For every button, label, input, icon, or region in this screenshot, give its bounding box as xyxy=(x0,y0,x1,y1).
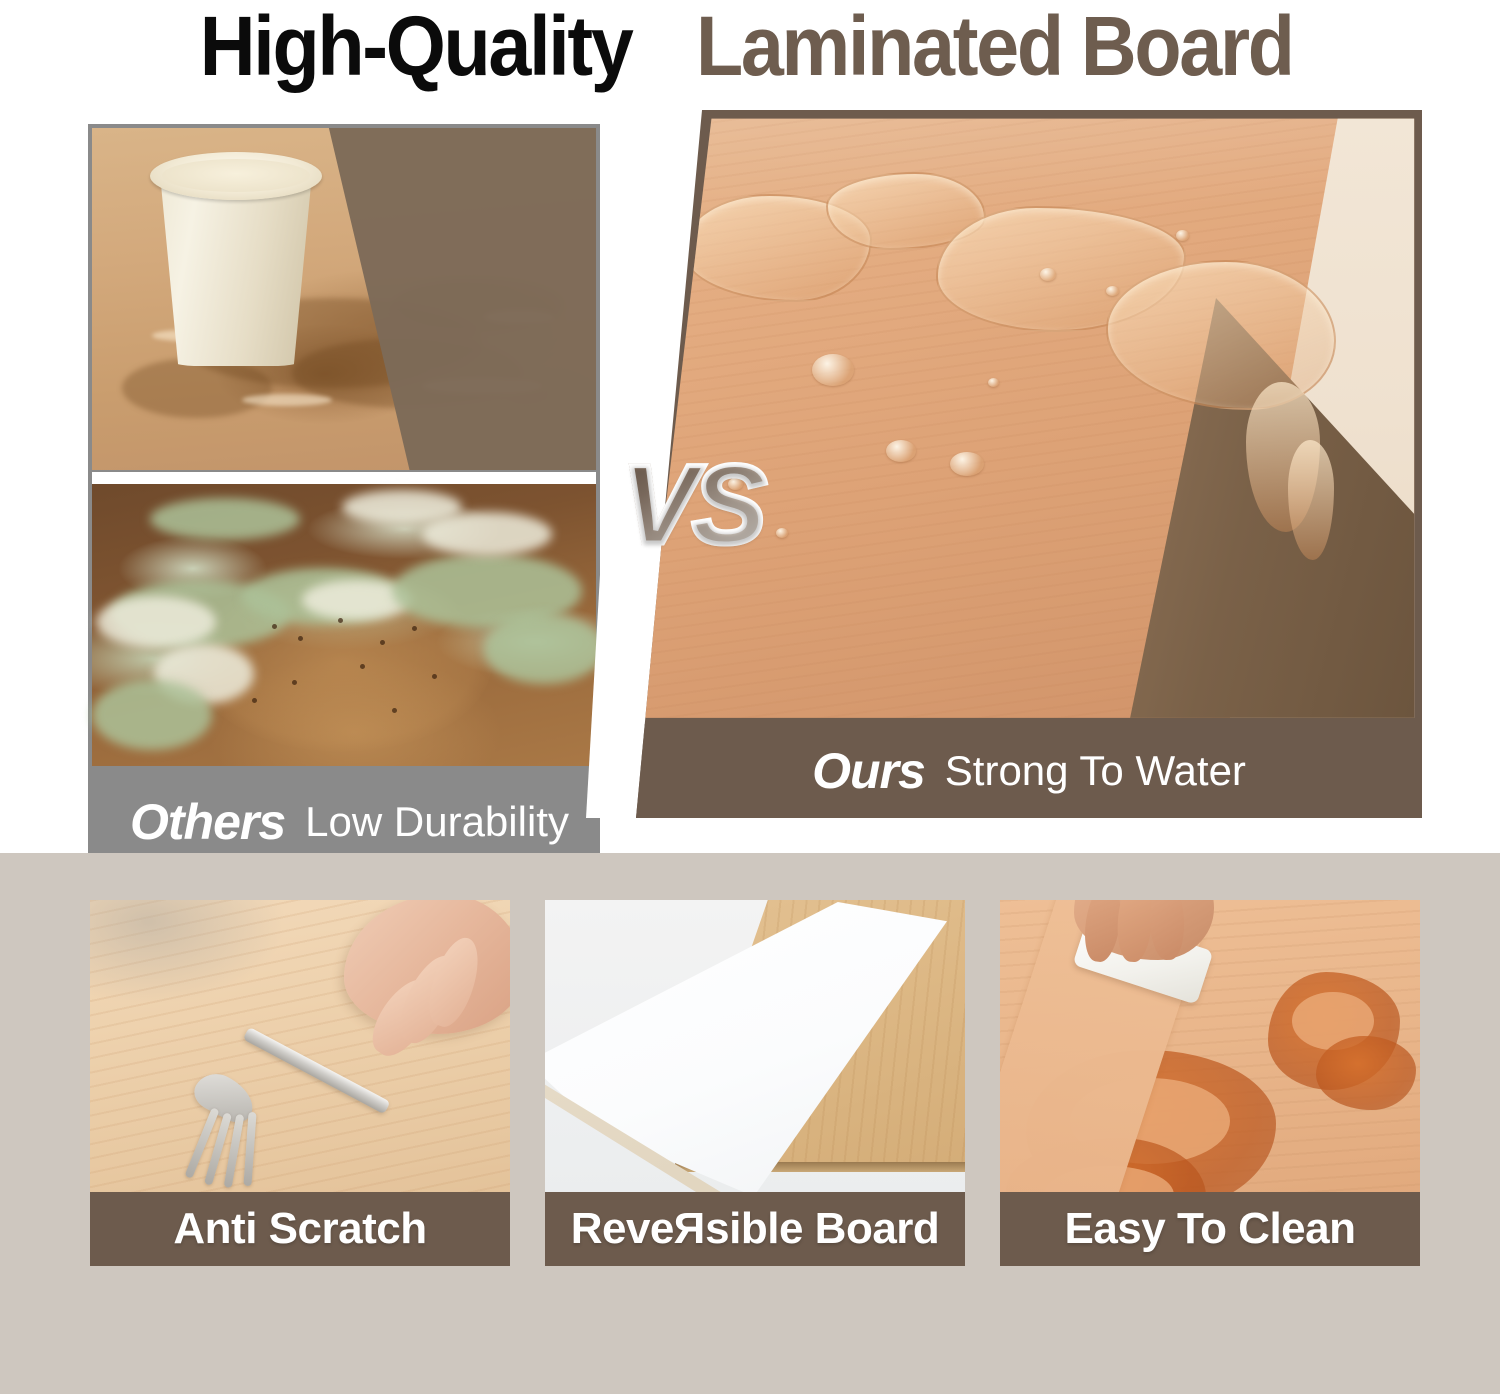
feature-card-easy-to-clean: Easy To Clean xyxy=(1000,900,1420,1266)
label-ours-claim: Strong To Water xyxy=(945,750,1246,792)
caption-prefix: Reve xyxy=(571,1204,674,1253)
label-others-brand: Others xyxy=(130,797,285,847)
feature-caption-text: Easy To Clean xyxy=(1064,1207,1355,1251)
page-title-secondary: Laminated Board xyxy=(696,4,1293,88)
feature-caption-easy-to-clean: Easy To Clean xyxy=(1000,1192,1420,1266)
page-title: High-Quality Laminated Board xyxy=(0,0,1500,93)
feature-caption-text: Anti Scratch xyxy=(173,1207,426,1251)
photo-water-beading xyxy=(636,110,1422,724)
comparison-section: Others Low Durability xyxy=(88,110,1422,818)
photo-mold-growth xyxy=(92,484,596,766)
photo-divider xyxy=(92,472,596,484)
fork-handle xyxy=(243,1027,391,1114)
feature-caption-anti-scratch: Anti Scratch xyxy=(90,1192,510,1266)
label-ours: Ours Strong To Water xyxy=(636,724,1422,818)
feature-strip: Anti Scratch ReveRsible Board xyxy=(0,853,1500,1394)
label-others-claim: Low Durability xyxy=(305,801,569,843)
feature-caption-reversible-board: ReveRsible Board xyxy=(545,1192,965,1266)
mirrored-r-glyph: R xyxy=(674,1207,705,1251)
vs-badge: VS xyxy=(592,440,792,570)
vs-badge-label: VS xyxy=(622,449,761,561)
caption-suffix: sible Board xyxy=(705,1204,939,1253)
feature-caption-text: ReveRsible Board xyxy=(571,1207,940,1251)
feature-card-reversible-board: ReveRsible Board xyxy=(545,900,965,1266)
label-ours-brand: Ours xyxy=(812,746,925,796)
feature-card-anti-scratch: Anti Scratch xyxy=(90,900,510,1266)
paper-cup-inner xyxy=(162,159,310,192)
page-title-primary: High-Quality xyxy=(200,4,632,88)
comparison-panel-others: Others Low Durability xyxy=(88,124,600,818)
